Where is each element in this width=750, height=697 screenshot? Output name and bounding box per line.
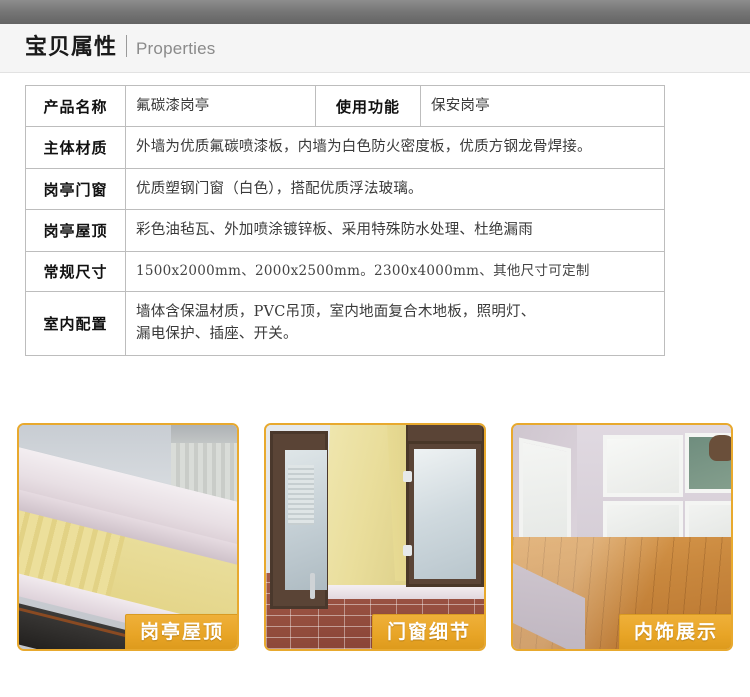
table-row: 岗亭屋顶 彩色油毡瓦、外加喷涂镀锌板、采用特殊防水处理、杜绝漏雨 [26,210,665,251]
properties-table: 产品名称 氟碳漆岗亭 使用功能 保安岗亭 主体材质 外墙为优质氟碳喷漆板，内墙为… [25,85,665,356]
photo-white-skirting [306,585,484,599]
table-row: 常规尺寸 1500x2000mm、2000x2500mm。2300x4000mm… [26,251,665,291]
page-subtitle: Properties [136,39,215,59]
caption-text-interior: 内饰展示 [634,621,718,643]
row-label-roof: 岗亭屋顶 [26,210,126,251]
gallery-item-door-window[interactable]: 门窗细节 [264,423,486,651]
photo-gallery: 岗亭屋顶 [0,423,750,659]
table-row: 岗亭门窗 优质塑钢门窗（白色），搭配优质浮法玻璃。 [26,168,665,209]
row-value-usage-function: 保安岗亭 [421,86,665,127]
photo-window-frame [406,441,484,587]
row-value-doors-windows: 优质塑钢门窗（白色），搭配优质浮法玻璃。 [126,168,665,209]
gallery-item-roof[interactable]: 岗亭屋顶 [17,423,239,651]
caption-tag-interior: 内饰展示 [619,614,733,651]
caption-text-roof: 岗亭屋顶 [140,621,224,643]
section-header: 宝贝属性 Properties [0,24,750,73]
photo-window-hinge-upper [403,471,412,482]
row-value-interior-config: 墙体含保温材质，PVC吊顶，室内地面复合木地板，照明灯、 漏电保护、插座、开关。 [126,291,665,355]
row-value-standard-size: 1500x2000mm、2000x2500mm。2300x4000mm、其他尺寸… [126,251,665,291]
product-properties-page: 宝贝属性 Properties 产品名称 氟碳漆岗亭 使用功能 保安岗亭 主体材… [0,0,750,697]
photo-window-glass [414,449,476,579]
photo-interior-window-upper-left [603,435,683,497]
properties-table-wrapper: 产品名称 氟碳漆岗亭 使用功能 保安岗亭 主体材质 外墙为优质氟碳喷漆板，内墙为… [25,85,665,356]
table-row: 室内配置 墙体含保温材质，PVC吊顶，室内地面复合木地板，照明灯、 漏电保护、插… [26,291,665,355]
photo-window-hinge-lower [403,545,412,556]
top-gradient-bar [0,0,750,24]
row-value-product-name: 氟碳漆岗亭 [126,86,316,127]
title-divider [126,35,127,57]
photo-window-blinds [288,465,314,525]
row-label-interior-config: 室内配置 [26,291,126,355]
table-row: 主体材质 外墙为优质氟碳喷漆板，内墙为白色防火密度板，优质方钢龙骨焊接。 [26,127,665,168]
page-title: 宝贝属性 [25,33,117,63]
caption-text-door-window: 门窗细节 [387,621,471,643]
table-row: 产品名称 氟碳漆岗亭 使用功能 保安岗亭 [26,86,665,127]
row-value-roof: 彩色油毡瓦、外加喷涂镀锌板、采用特殊防水处理、杜绝漏雨 [126,210,665,251]
photo-door-handle [310,573,315,599]
row-label-usage-function: 使用功能 [316,86,421,127]
row-label-product-name: 产品名称 [26,86,126,127]
photo-interior-figure-outside [709,435,731,461]
section-header-inner: 宝贝属性 Properties [25,32,216,63]
caption-tag-roof: 岗亭屋顶 [125,614,239,651]
row-label-standard-size: 常规尺寸 [26,251,126,291]
caption-tag-door-window: 门窗细节 [372,614,486,651]
row-label-main-material: 主体材质 [26,127,126,168]
row-value-main-material: 外墙为优质氟碳喷漆板，内墙为白色防火密度板，优质方钢龙骨焊接。 [126,127,665,168]
row-label-doors-windows: 岗亭门窗 [26,168,126,209]
gallery-item-interior[interactable]: 内饰展示 [511,423,733,651]
